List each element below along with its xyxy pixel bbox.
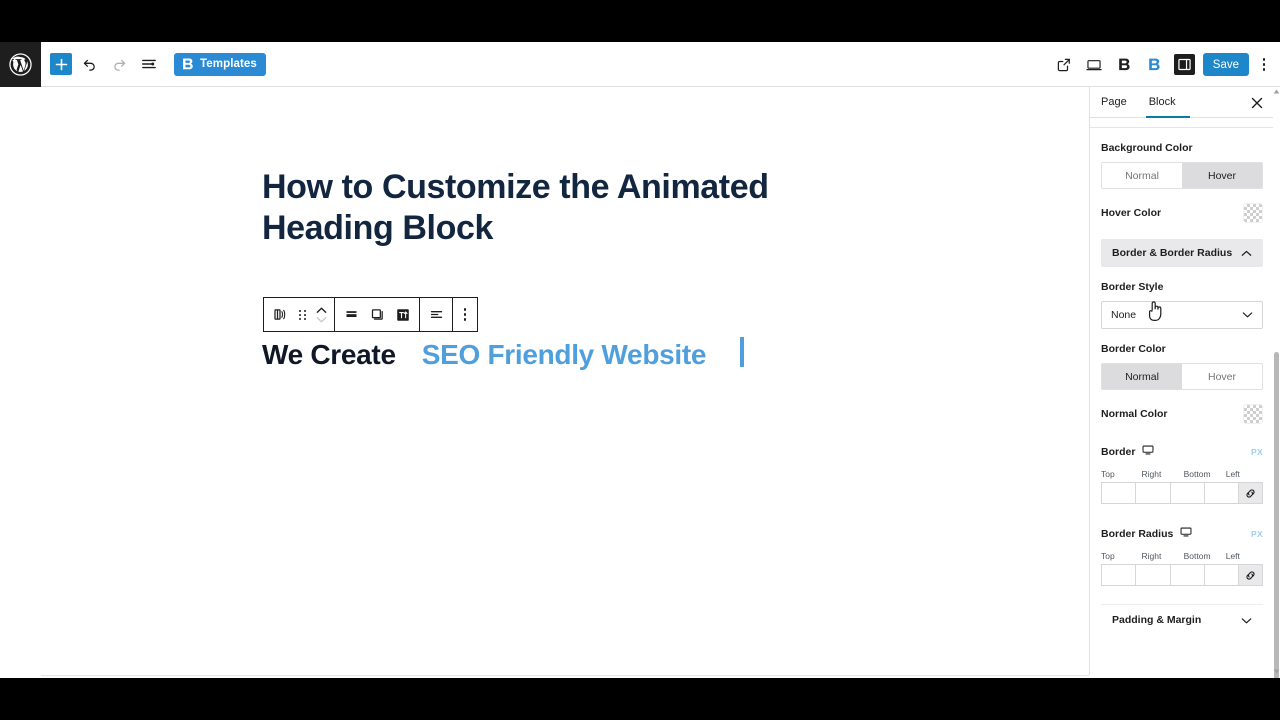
border-style-select[interactable]: None xyxy=(1101,301,1263,329)
fancy-blocks-dark-icon[interactable] xyxy=(1111,51,1138,78)
editor-top-bar: Templates How to Customize the Animated … xyxy=(0,42,1280,87)
border-and-radius-title: Border & Border Radius xyxy=(1112,247,1232,259)
background-color-label: Background Color xyxy=(1101,142,1263,154)
radius-side-label-bottom: Bottom xyxy=(1184,551,1226,561)
border-side-inputs xyxy=(1101,482,1263,504)
kebab-menu-icon[interactable] xyxy=(1254,51,1274,78)
background-color-state-toggle: Normal Hover xyxy=(1101,162,1263,189)
link-sides-icon[interactable] xyxy=(1239,482,1263,504)
link-sides-icon[interactable] xyxy=(1239,564,1263,586)
sidebar-scroll-area[interactable]: Background Color Normal Hover Hover Colo… xyxy=(1090,118,1273,675)
background-normal-tab[interactable]: Normal xyxy=(1102,163,1182,188)
animated-heading-block[interactable]: We Create SEO Friendly Website xyxy=(262,334,744,371)
duplicate-block-icon[interactable] xyxy=(364,298,390,331)
editor-canvas[interactable]: How to Customize the Animated Heading Bl… xyxy=(41,87,1089,675)
desktop-icon[interactable] xyxy=(1180,526,1192,541)
border-bottom-input[interactable] xyxy=(1171,482,1205,504)
typing-caret-icon xyxy=(740,337,744,367)
tab-block-label: Block xyxy=(1149,96,1176,108)
border-side-label-top: Top xyxy=(1101,469,1142,479)
close-icon[interactable] xyxy=(1249,95,1265,111)
border-style-label: Border Style xyxy=(1101,281,1263,293)
border-radius-side-inputs xyxy=(1101,564,1263,586)
save-button[interactable]: Save xyxy=(1203,53,1249,76)
block-toolbar-group-more xyxy=(452,298,477,331)
block-toolbar xyxy=(263,297,478,332)
wordpress-block-editor: Templates How to Customize the Animated … xyxy=(0,42,1280,678)
border-radius-sides-control: Top Right Bottom Left xyxy=(1101,551,1263,586)
block-toolbar-group-block xyxy=(264,298,334,331)
border-color-label: Border Color xyxy=(1101,343,1263,355)
letterbox-bottom xyxy=(0,678,1280,720)
screenshot-root: Templates How to Customize the Animated … xyxy=(0,0,1280,720)
chevron-down-icon xyxy=(1241,611,1252,629)
normal-color-row: Normal Color xyxy=(1101,404,1263,424)
templates-label: Templates xyxy=(200,58,257,70)
radius-side-label-top: Top xyxy=(1101,551,1142,561)
border-top-input[interactable] xyxy=(1101,482,1136,504)
sidebar-tabs: Page Block xyxy=(1090,87,1273,118)
align-text-icon[interactable] xyxy=(423,298,449,331)
top-bar-right-tools: Save xyxy=(1051,42,1274,87)
border-and-radius-accordion[interactable]: Border & Border Radius xyxy=(1101,239,1263,267)
add-block-button[interactable] xyxy=(50,53,72,75)
padding-margin-title: Padding & Margin xyxy=(1112,614,1201,626)
heading-level-icon[interactable] xyxy=(338,298,364,331)
chevron-down-icon xyxy=(1242,309,1253,321)
templates-button[interactable]: Templates xyxy=(174,53,266,76)
drag-handle-icon[interactable] xyxy=(293,298,311,331)
fancy-blocks-blue-icon[interactable] xyxy=(1141,51,1168,78)
move-up-down-icon[interactable] xyxy=(311,298,331,331)
scroll-down-arrow-icon[interactable] xyxy=(1273,667,1280,675)
block-settings-sidebar: Page Block Background Color Normal xyxy=(1089,87,1273,675)
normal-color-label: Normal Color xyxy=(1101,408,1168,420)
redo-button[interactable] xyxy=(106,51,132,77)
border-color-hover-tab[interactable]: Hover xyxy=(1182,364,1262,389)
border-unit-px[interactable]: PX xyxy=(1251,447,1263,457)
transparent-checker-swatch[interactable] xyxy=(1243,404,1263,424)
padding-margin-accordion[interactable]: Padding & Margin xyxy=(1101,604,1263,634)
border-label: Border xyxy=(1101,446,1135,458)
radius-bottom-input[interactable] xyxy=(1171,564,1205,586)
sidebar-scrollbar[interactable] xyxy=(1273,87,1280,675)
undo-button[interactable] xyxy=(76,51,102,77)
radius-side-label-left: Left xyxy=(1226,551,1263,561)
radius-top-input[interactable] xyxy=(1101,564,1136,586)
kebab-menu-icon[interactable] xyxy=(456,298,474,331)
radius-right-input[interactable] xyxy=(1136,564,1170,586)
document-overview-icon[interactable] xyxy=(136,51,162,77)
border-color-state-toggle: Normal Hover xyxy=(1101,363,1263,390)
external-link-icon[interactable] xyxy=(1051,51,1078,78)
settings-sidebar-icon[interactable] xyxy=(1171,51,1198,78)
animated-heading-dynamic-text: SEO Friendly Website xyxy=(422,339,706,371)
desktop-icon[interactable] xyxy=(1142,444,1154,459)
letterbox-top xyxy=(0,0,1280,42)
border-side-label-right: Right xyxy=(1142,469,1184,479)
border-side-labels: Top Right Bottom Left xyxy=(1101,469,1263,479)
top-bar-left-tools: Templates xyxy=(41,51,266,77)
border-side-label-left: Left xyxy=(1226,469,1263,479)
border-radius-side-labels: Top Right Bottom Left xyxy=(1101,551,1263,561)
chevron-up-icon xyxy=(1241,244,1252,262)
border-control-header: Border PX xyxy=(1101,444,1263,459)
radius-left-input[interactable] xyxy=(1205,564,1239,586)
page-title[interactable]: How to Customize the Animated Heading Bl… xyxy=(262,167,882,250)
radius-side-label-right: Right xyxy=(1142,551,1184,561)
tab-block[interactable]: Block xyxy=(1138,87,1187,118)
border-color-normal-tab[interactable]: Normal xyxy=(1102,364,1182,389)
animated-heading-static-text: We Create xyxy=(262,339,396,371)
border-right-input[interactable] xyxy=(1136,482,1170,504)
border-left-input[interactable] xyxy=(1205,482,1239,504)
wordpress-logo-icon[interactable] xyxy=(0,42,41,87)
text-format-icon[interactable] xyxy=(390,298,416,331)
border-radius-control-header: Border Radius PX xyxy=(1101,526,1263,541)
border-side-label-bottom: Bottom xyxy=(1184,469,1226,479)
desktop-preview-icon[interactable] xyxy=(1081,51,1108,78)
hover-color-row: Hover Color xyxy=(1101,203,1263,223)
border-radius-label: Border Radius xyxy=(1101,528,1173,540)
hover-color-label: Hover Color xyxy=(1101,207,1161,219)
background-hover-tab[interactable]: Hover xyxy=(1182,163,1262,188)
tab-active-indicator xyxy=(1146,116,1190,119)
transparent-checker-swatch[interactable] xyxy=(1243,203,1263,223)
tab-page[interactable]: Page xyxy=(1090,87,1138,118)
border-style-value: None xyxy=(1111,309,1136,321)
block-toolbar-group-align xyxy=(419,298,452,331)
table-of-contents-bar: Disable TOP Table Of Contents xyxy=(41,675,1089,678)
border-sides-control: Top Right Bottom Left xyxy=(1101,469,1263,504)
animated-heading-block-icon[interactable] xyxy=(267,298,293,331)
sidebar-scrollbar-thumb[interactable] xyxy=(1274,352,1279,678)
block-toolbar-group-format xyxy=(334,298,419,331)
tab-page-label: Page xyxy=(1101,96,1127,108)
scroll-up-arrow-icon[interactable] xyxy=(1273,87,1280,95)
fancy-blocks-logo-icon xyxy=(180,57,195,72)
scrolled-off-section xyxy=(1090,118,1273,128)
border-radius-unit-px[interactable]: PX xyxy=(1251,529,1263,539)
